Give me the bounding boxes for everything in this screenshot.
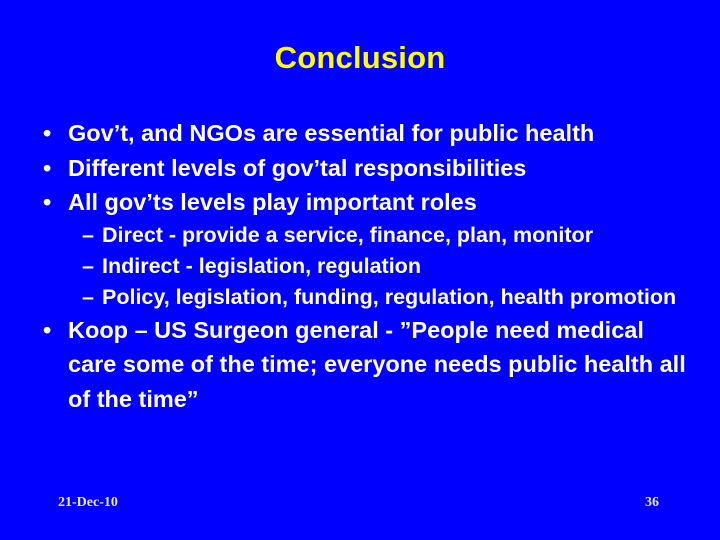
bullet-dash-icon: – <box>82 282 94 313</box>
list-item-text: Koop – US Surgeon general - ”People need… <box>68 313 690 417</box>
bullet-dash-icon: – <box>82 251 94 282</box>
footer-date: 21-Dec-10 <box>58 495 118 511</box>
list-item-text: All gov’ts levels play important roles <box>68 185 690 220</box>
sub-list-item: – Policy, legislation, funding, regulati… <box>40 282 690 313</box>
list-item: • Gov’t, and NGOs are essential for publ… <box>40 116 690 151</box>
slide-body: • Gov’t, and NGOs are essential for publ… <box>40 116 690 416</box>
sub-list-item-text: Direct - provide a service, finance, pla… <box>102 220 690 251</box>
sub-list-item-text: Indirect - legislation, regulation <box>102 251 690 282</box>
bullet-dash-icon: – <box>82 220 94 251</box>
sub-list-item: – Direct - provide a service, finance, p… <box>40 220 690 251</box>
list-item: • Koop – US Surgeon general - ”People ne… <box>40 313 690 417</box>
bullet-dot-icon: • <box>43 151 51 186</box>
slide: Conclusion • Gov’t, and NGOs are essenti… <box>0 0 720 540</box>
bullet-dot-icon: • <box>43 116 51 151</box>
list-item: • All gov’ts levels play important roles <box>40 185 690 220</box>
sub-list-item-text: Policy, legislation, funding, regulation… <box>102 282 690 313</box>
list-item-text: Different levels of gov’tal responsibili… <box>68 151 690 186</box>
bullet-dot-icon: • <box>43 313 51 348</box>
page-title: Conclusion <box>0 40 720 76</box>
footer-page-number: 36 <box>645 495 659 511</box>
sub-list-item: – Indirect - legislation, regulation <box>40 251 690 282</box>
bullet-dot-icon: • <box>43 185 51 220</box>
list-item-text: Gov’t, and NGOs are essential for public… <box>68 116 690 151</box>
list-item: • Different levels of gov’tal responsibi… <box>40 151 690 186</box>
